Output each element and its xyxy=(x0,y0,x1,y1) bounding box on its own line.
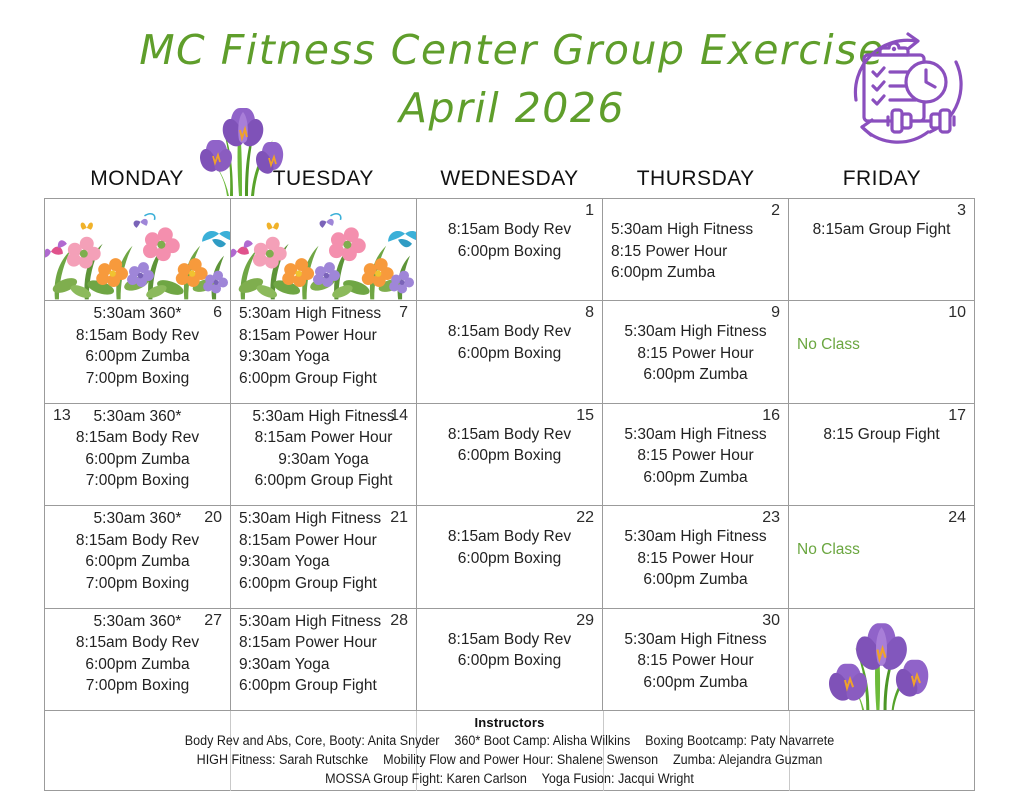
weekday-tuesday: TUESDAY xyxy=(230,160,416,198)
calendar-event: 8:15am Body Rev xyxy=(53,632,222,654)
weekday-friday: FRIDAY xyxy=(789,160,975,198)
calendar-event: 8:15am Body Rev xyxy=(425,526,594,548)
calendar-event: 5:30am High Fitness xyxy=(611,321,780,343)
calendar-event: 5:30am High Fitness xyxy=(239,303,408,325)
calendar-grid: 18:15am Body Rev6:00pm Boxing25:30am Hig… xyxy=(44,198,975,711)
calendar-event: 8:15 Power Hour xyxy=(611,650,780,672)
calendar-cell[interactable]: 88:15am Body Rev6:00pm Boxing xyxy=(417,301,603,403)
instructor-lines: Body Rev and Abs, Core, Booty: Anita Sny… xyxy=(45,731,974,788)
calendar-event-list: 5:30am 360*8:15am Body Rev6:00pm Zumba7:… xyxy=(53,406,222,492)
calendar-event: 5:30am 360* xyxy=(53,508,222,530)
page-header: MC Fitness Center Group Exercise April 2… xyxy=(0,0,1024,160)
calendar-day-number: 24 xyxy=(797,509,966,527)
calendar-day-number: 9 xyxy=(611,304,780,322)
calendar-cell[interactable]: 95:30am High Fitness8:15 Power Hour6:00p… xyxy=(603,301,789,403)
calendar-cell[interactable] xyxy=(231,199,417,301)
calendar-cell[interactable]: 135:30am 360*8:15am Body Rev6:00pm Zumba… xyxy=(45,404,231,506)
instructor-entry: MOSSA Group Fight: Karen Carlson xyxy=(325,771,527,786)
calendar-cell[interactable]: 158:15am Body Rev6:00pm Boxing xyxy=(417,404,603,506)
no-class-label: No Class xyxy=(797,334,966,356)
calendar-event: 5:30am High Fitness xyxy=(239,406,408,428)
calendar-event: 8:15 Power Hour xyxy=(611,343,780,365)
calendar-event: 5:30am High Fitness xyxy=(611,219,780,241)
calendar-day-number: 2 xyxy=(611,202,780,220)
instructor-entry: Boxing Bootcamp: Paty Navarrete xyxy=(645,733,834,748)
calendar-event: 7:00pm Boxing xyxy=(53,470,222,492)
calendar-cell[interactable]: 24No Class xyxy=(789,506,975,608)
calendar-event-list: 5:30am High Fitness8:15am Power Hour9:30… xyxy=(239,508,408,594)
instructor-entry: HIGH Fitness: Sarah Rutschke xyxy=(197,752,369,767)
calendar-cell[interactable]: 228:15am Body Rev6:00pm Boxing xyxy=(417,506,603,608)
calendar-event-list: 8:15am Body Rev6:00pm Boxing xyxy=(425,424,594,467)
calendar-event: 8:15 Power Hour xyxy=(611,241,780,263)
purple-crocus-flowers xyxy=(789,609,974,710)
calendar-cell[interactable]: 305:30am High Fitness8:15 Power Hour6:00… xyxy=(603,609,789,711)
calendar-event: 5:30am High Fitness xyxy=(239,508,408,530)
calendar-event-list: 5:30am High Fitness8:15am Power Hour9:30… xyxy=(239,303,408,389)
calendar-event: 6:00pm Boxing xyxy=(425,548,594,570)
calendar-event: 6:00pm Zumba xyxy=(53,551,222,573)
weekday-thursday: THURSDAY xyxy=(603,160,789,198)
calendar-event: 7:00pm Boxing xyxy=(53,573,222,595)
calendar-event: 9:30am Yoga xyxy=(239,346,408,368)
instructor-entry: Body Rev and Abs, Core, Booty: Anita Sny… xyxy=(185,733,440,748)
calendar-day-number: 17 xyxy=(797,407,966,425)
calendar-event-list: 5:30am 360*8:15am Body Rev6:00pm Zumba7:… xyxy=(53,508,222,594)
calendar-event: 6:00pm Group Fight xyxy=(239,368,408,390)
calendar-event: 5:30am High Fitness xyxy=(611,424,780,446)
calendar-event: 6:00pm Zumba xyxy=(611,262,780,284)
instructor-line: MOSSA Group Fight: Karen CarlsonYoga Fus… xyxy=(78,769,942,788)
calendar-event: 8:15am Power Hour xyxy=(239,325,408,347)
calendar-cell[interactable]: 10No Class xyxy=(789,301,975,403)
calendar-event: 5:30am High Fitness xyxy=(611,526,780,548)
calendar-cell[interactable]: 165:30am High Fitness8:15 Power Hour6:00… xyxy=(603,404,789,506)
calendar-event: 9:30am Yoga xyxy=(239,654,408,676)
calendar-cell[interactable]: 145:30am High Fitness8:15am Power Hour9:… xyxy=(231,404,417,506)
calendar-event: 6:00pm Boxing xyxy=(425,343,594,365)
calendar-event-list: 8:15am Group Fight xyxy=(797,219,966,241)
calendar-event: 6:00pm Boxing xyxy=(425,241,594,263)
calendar-event: 5:30am 360* xyxy=(53,303,222,325)
calendar-event: 6:00pm Group Fight xyxy=(239,573,408,595)
weekday-header-row: MONDAY TUESDAY WEDNESDAY THURSDAY FRIDAY xyxy=(44,160,975,198)
calendar-event: 8:15 Group Fight xyxy=(797,424,966,446)
calendar-event: 8:15am Power Hour xyxy=(239,427,408,449)
calendar-cell[interactable]: 65:30am 360*8:15am Body Rev6:00pm Zumba7… xyxy=(45,301,231,403)
calendar-event: 5:30am 360* xyxy=(53,406,222,428)
calendar-event: 8:15 Power Hour xyxy=(611,445,780,467)
calendar-cell[interactable]: 205:30am 360*8:15am Body Rev6:00pm Zumba… xyxy=(45,506,231,608)
calendar-day-number: 1 xyxy=(425,202,594,220)
instructor-entry: Mobility Flow and Power Hour: Shalene Sw… xyxy=(383,752,658,767)
calendar-cell[interactable]: 215:30am High Fitness8:15am Power Hour9:… xyxy=(231,506,417,608)
calendar-event: 6:00pm Zumba xyxy=(53,346,222,368)
calendar-event-list: 5:30am High Fitness8:15am Power Hour9:30… xyxy=(239,406,408,492)
instructors-title: Instructors xyxy=(45,714,974,731)
calendar-cell[interactable] xyxy=(789,609,975,711)
no-class-label: No Class xyxy=(797,539,966,561)
calendar-event: 8:15am Group Fight xyxy=(797,219,966,241)
calendar-event: 6:00pm Zumba xyxy=(53,449,222,471)
calendar-cell[interactable] xyxy=(45,199,231,301)
calendar-cell[interactable]: 38:15am Group Fight xyxy=(789,199,975,301)
calendar-day-number: 16 xyxy=(611,407,780,425)
calendar-day-number: 30 xyxy=(611,612,780,630)
calendar-cell[interactable]: 275:30am 360*8:15am Body Rev6:00pm Zumba… xyxy=(45,609,231,711)
calendar-day-number: 8 xyxy=(425,304,594,322)
calendar-event: 8:15 Power Hour xyxy=(611,548,780,570)
calendar-event: 7:00pm Boxing xyxy=(53,675,222,697)
weekday-monday: MONDAY xyxy=(44,160,230,198)
calendar-event: 6:00pm Boxing xyxy=(425,650,594,672)
calendar-event: 9:30am Yoga xyxy=(239,551,408,573)
instructor-line: Body Rev and Abs, Core, Booty: Anita Sny… xyxy=(78,731,942,750)
calendar-event: 6:00pm Zumba xyxy=(611,672,780,694)
calendar-event-list: 5:30am 360*8:15am Body Rev6:00pm Zumba7:… xyxy=(53,611,222,697)
instructor-entry: Yoga Fusion: Jacqui Wright xyxy=(542,771,694,786)
calendar-cell[interactable]: 235:30am High Fitness8:15 Power Hour6:00… xyxy=(603,506,789,608)
calendar-event: 8:15am Body Rev xyxy=(53,325,222,347)
calendar-event: 8:15am Power Hour xyxy=(239,632,408,654)
calendar-event: 8:15am Power Hour xyxy=(239,530,408,552)
calendar-event-list: 8:15 Group Fight xyxy=(797,424,966,446)
calendar-event: 8:15am Body Rev xyxy=(53,427,222,449)
calendar-event: 8:15am Body Rev xyxy=(425,219,594,241)
calendar-event-list: 5:30am 360*8:15am Body Rev6:00pm Zumba7:… xyxy=(53,303,222,389)
instructor-line: HIGH Fitness: Sarah RutschkeMobility Flo… xyxy=(78,750,942,769)
calendar-cell[interactable]: 298:15am Body Rev6:00pm Boxing xyxy=(417,609,603,711)
fitness-clipboard-clock-dumbbell-icon xyxy=(838,24,988,154)
calendar-day-number: 3 xyxy=(797,202,966,220)
instructor-entry: 360* Boot Camp: Alisha Wilkins xyxy=(454,733,630,748)
calendar-event-list: 5:30am High Fitness8:15 Power Hour6:00pm… xyxy=(611,629,780,694)
calendar-event-list: 5:30am High Fitness8:15 Power Hour6:00pm… xyxy=(611,526,780,591)
spring-flowers-row xyxy=(231,199,416,300)
calendar-event-list: 5:30am High Fitness8:15 Power Hour6:00pm… xyxy=(611,424,780,489)
calendar-day-number: 29 xyxy=(425,612,594,630)
instructors-footer: Instructors Body Rev and Abs, Core, Boot… xyxy=(44,711,975,791)
calendar-event-list: 8:15am Body Rev6:00pm Boxing xyxy=(425,526,594,569)
calendar-event: 6:00pm Boxing xyxy=(425,445,594,467)
calendar-event: 6:00pm Group Fight xyxy=(239,675,408,697)
calendar-event-list: 5:30am High Fitness8:15 Power Hour6:00pm… xyxy=(611,219,780,284)
calendar-day-number: 10 xyxy=(797,304,966,322)
calendar-day-number: 15 xyxy=(425,407,594,425)
calendar-event-list: 5:30am High Fitness8:15am Power Hour9:30… xyxy=(239,611,408,697)
calendar-event: 5:30am High Fitness xyxy=(611,629,780,651)
calendar-day-number: 23 xyxy=(611,509,780,527)
calendar-event-list: 8:15am Body Rev6:00pm Boxing xyxy=(425,629,594,672)
calendar-event: 7:00pm Boxing xyxy=(53,368,222,390)
calendar-event: 6:00pm Zumba xyxy=(53,654,222,676)
calendar-event: 6:00pm Zumba xyxy=(611,364,780,386)
calendar-event: 8:15am Body Rev xyxy=(53,530,222,552)
calendar-cell[interactable]: 18:15am Body Rev6:00pm Boxing xyxy=(417,199,603,301)
calendar-cell[interactable]: 285:30am High Fitness8:15am Power Hour9:… xyxy=(231,609,417,711)
weekday-wednesday: WEDNESDAY xyxy=(416,160,602,198)
calendar-event: 6:00pm Group Fight xyxy=(239,470,408,492)
calendar-cell[interactable]: 75:30am High Fitness8:15am Power Hour9:3… xyxy=(231,301,417,403)
calendar-event: 9:30am Yoga xyxy=(239,449,408,471)
spring-flowers-row xyxy=(45,199,230,300)
calendar-event: 8:15am Body Rev xyxy=(425,321,594,343)
instructor-entry: Zumba: Alejandra Guzman xyxy=(673,752,822,767)
calendar-event-list: 8:15am Body Rev6:00pm Boxing xyxy=(425,219,594,262)
calendar-event-list: 5:30am High Fitness8:15 Power Hour6:00pm… xyxy=(611,321,780,386)
calendar-day-number: 22 xyxy=(425,509,594,527)
calendar-event-list: 8:15am Body Rev6:00pm Boxing xyxy=(425,321,594,364)
calendar-event: 5:30am 360* xyxy=(53,611,222,633)
calendar-event: 6:00pm Zumba xyxy=(611,569,780,591)
calendar-event: 6:00pm Zumba xyxy=(611,467,780,489)
calendar-cell[interactable]: 178:15 Group Fight xyxy=(789,404,975,506)
calendar-event: 8:15am Body Rev xyxy=(425,629,594,651)
calendar-event: 5:30am High Fitness xyxy=(239,611,408,633)
calendar-event: 8:15am Body Rev xyxy=(425,424,594,446)
calendar-cell[interactable]: 25:30am High Fitness8:15 Power Hour6:00p… xyxy=(603,199,789,301)
